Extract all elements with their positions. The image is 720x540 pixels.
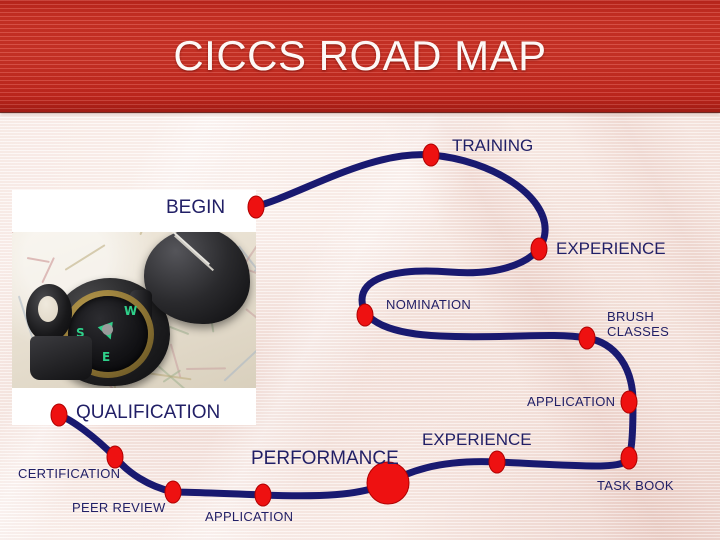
road-label-brush-classes: BRUSHCLASSES [607, 310, 669, 339]
road-label-line: BEGIN [166, 197, 225, 218]
road-label-task-book: TASK BOOK [597, 479, 674, 494]
road-node-application-2[interactable] [621, 391, 637, 413]
road-label-line: PERFORMANCE [251, 448, 399, 469]
road-label-line: APPLICATION [527, 394, 615, 409]
road-node-brush-classes[interactable] [579, 327, 595, 349]
road-node-application-1[interactable] [255, 484, 271, 506]
road-label-line: CERTIFICATION [18, 466, 120, 481]
road-label-line: TRAINING [452, 136, 533, 155]
road-label-line: NOMINATION [386, 297, 471, 312]
road-label-line: EXPERIENCE [556, 239, 666, 258]
road-label-line: EXPERIENCE [422, 430, 532, 449]
road-node-qualification[interactable] [51, 404, 67, 426]
road-label-qualification: QUALIFICATION [76, 402, 220, 423]
road-node-peer-review[interactable] [165, 481, 181, 503]
road-node-experience-2[interactable] [489, 451, 505, 473]
road-label-experience-1: EXPERIENCE [556, 239, 666, 258]
road-label-line: CLASSES [607, 324, 669, 339]
road-node-task-book[interactable] [621, 447, 637, 469]
road-node-nomination[interactable] [357, 304, 373, 326]
road-node-training[interactable] [423, 144, 439, 166]
road-label-begin: BEGIN [166, 197, 225, 218]
road-label-application-2: APPLICATION [527, 395, 615, 410]
road-label-nomination: NOMINATION [386, 298, 471, 313]
road-node-certification[interactable] [107, 446, 123, 468]
road-label-experience-2: EXPERIENCE [422, 430, 532, 449]
road-line [59, 155, 633, 496]
road-label-application-1: APPLICATION [205, 510, 293, 525]
road-label-training: TRAINING [452, 136, 533, 155]
road-label-line: APPLICATION [205, 509, 293, 524]
road-label-peer-review: PEER REVIEW [72, 501, 166, 516]
road-label-line: PEER REVIEW [72, 500, 166, 515]
road-label-certification: CERTIFICATION [18, 467, 120, 482]
slide-canvas: CICCS ROAD MAP W S E BEGINTRAININGEXPERI… [0, 0, 720, 540]
road-node-experience-1[interactable] [531, 238, 547, 260]
road-label-line: BRUSH [607, 309, 654, 324]
road-label-line: TASK BOOK [597, 478, 674, 493]
road-label-performance: PERFORMANCE [251, 448, 399, 469]
road-label-line: QUALIFICATION [76, 402, 220, 423]
road-node-begin[interactable] [248, 196, 264, 218]
